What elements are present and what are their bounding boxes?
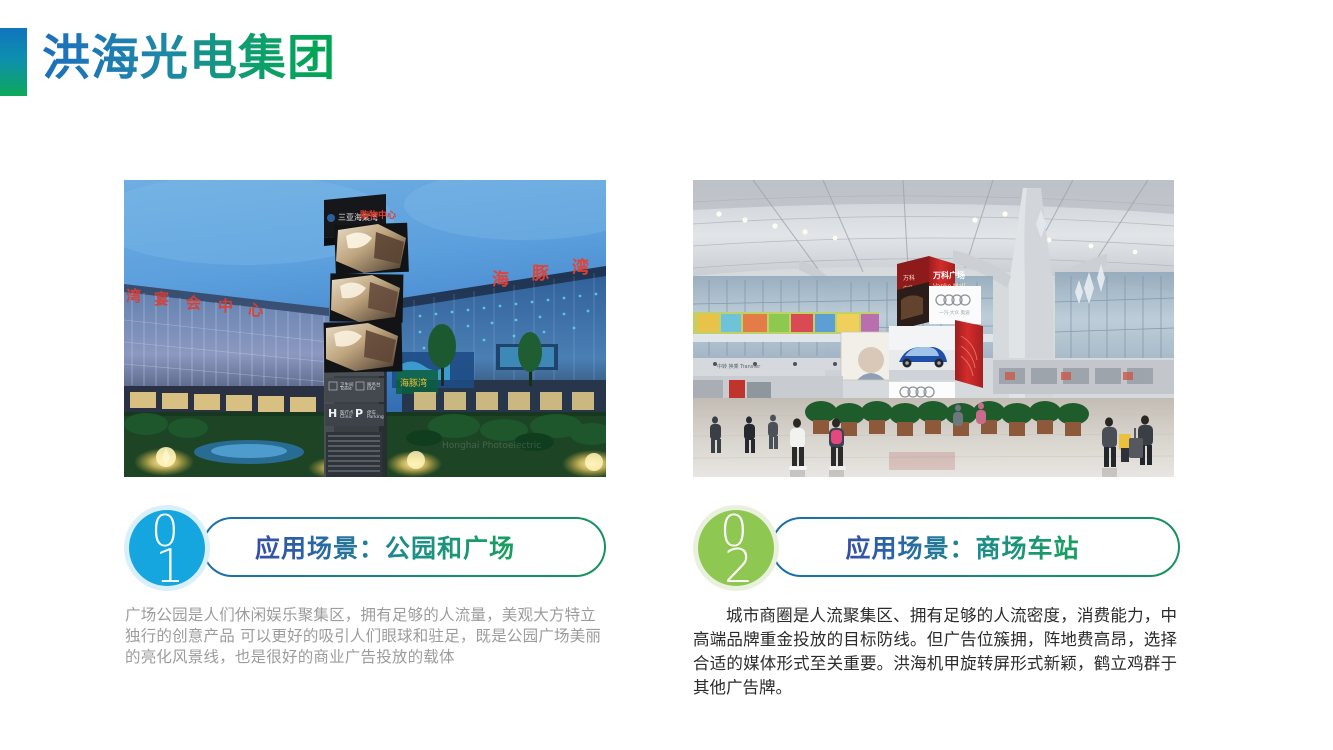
photo-station-mall-art: 万科广场 Vanke Mall 万科 广场 一汽-大众 奥迪 [693,180,1174,477]
svg-text:中转 换乘 Transfer: 中转 换乘 Transfer [717,363,761,370]
svg-text:万科广场: 万科广场 [932,270,965,280]
photo-plaza-park-art: 湾宴会 中心 [124,180,606,477]
svg-text:湾: 湾 [572,257,589,278]
photo-plaza-park: 湾宴会 中心 [124,180,606,477]
badge-02: 0 2 [693,505,779,591]
svg-text:会: 会 [186,294,201,312]
slide-root: 洪海光电集团 [0,0,1333,750]
svg-text:Info: Info [367,386,376,392]
caption-row-1: 应用场景：公园和广场 0 1 [124,505,606,591]
photo-station-mall: 万科广场 Vanke Mall 万科 广场 一汽-大众 奥迪 [693,180,1174,477]
svg-text:Clinic: Clinic [340,414,353,420]
caption-row-2: 应用场景：商场车站 0 2 [693,505,1180,591]
svg-text:万科: 万科 [903,274,915,282]
svg-text:H: H [328,407,337,420]
caption-pill-2[interactable]: 应用场景：商场车站 [771,517,1180,577]
svg-text:豚: 豚 [532,264,549,284]
body-text-2: 城市商圈是人流聚集区、拥有足够的人流密度，消费能力，中高端品牌重金投放的目标防线… [693,604,1177,700]
svg-text:宴: 宴 [154,290,169,308]
caption-label-1: 应用场景：公园和广场 [233,529,523,565]
badge-01-digit-bottom: 1 [155,543,184,589]
svg-text:P: P [355,407,363,420]
badge-01: 0 1 [124,505,210,591]
svg-text:Toilet: Toilet [339,386,352,392]
svg-text:一汽-大众 奥迪: 一汽-大众 奥迪 [939,309,970,316]
svg-text:Honghai Photoelectric: Honghai Photoelectric [442,441,541,451]
page-title: 洪海光电集团 [42,27,336,91]
svg-text:Parking: Parking [367,414,384,420]
svg-text:海: 海 [492,269,509,290]
header-accent-bar [0,28,27,96]
caption-pill-1[interactable]: 应用场景：公园和广场 [202,517,606,577]
svg-text:海豚湾: 海豚湾 [400,377,427,389]
svg-text:购物中心: 购物中心 [360,209,396,221]
svg-text:湾: 湾 [126,287,141,305]
body-text-1: 广场公园是人们休闲娱乐聚集区，拥有足够的人流量，美观大方特立独行的创意产品 可以… [125,605,610,668]
svg-text:中: 中 [218,297,233,315]
badge-02-digit-bottom: 2 [724,543,753,589]
caption-label-2: 应用场景：商场车站 [823,529,1087,565]
svg-text:心: 心 [248,301,263,319]
